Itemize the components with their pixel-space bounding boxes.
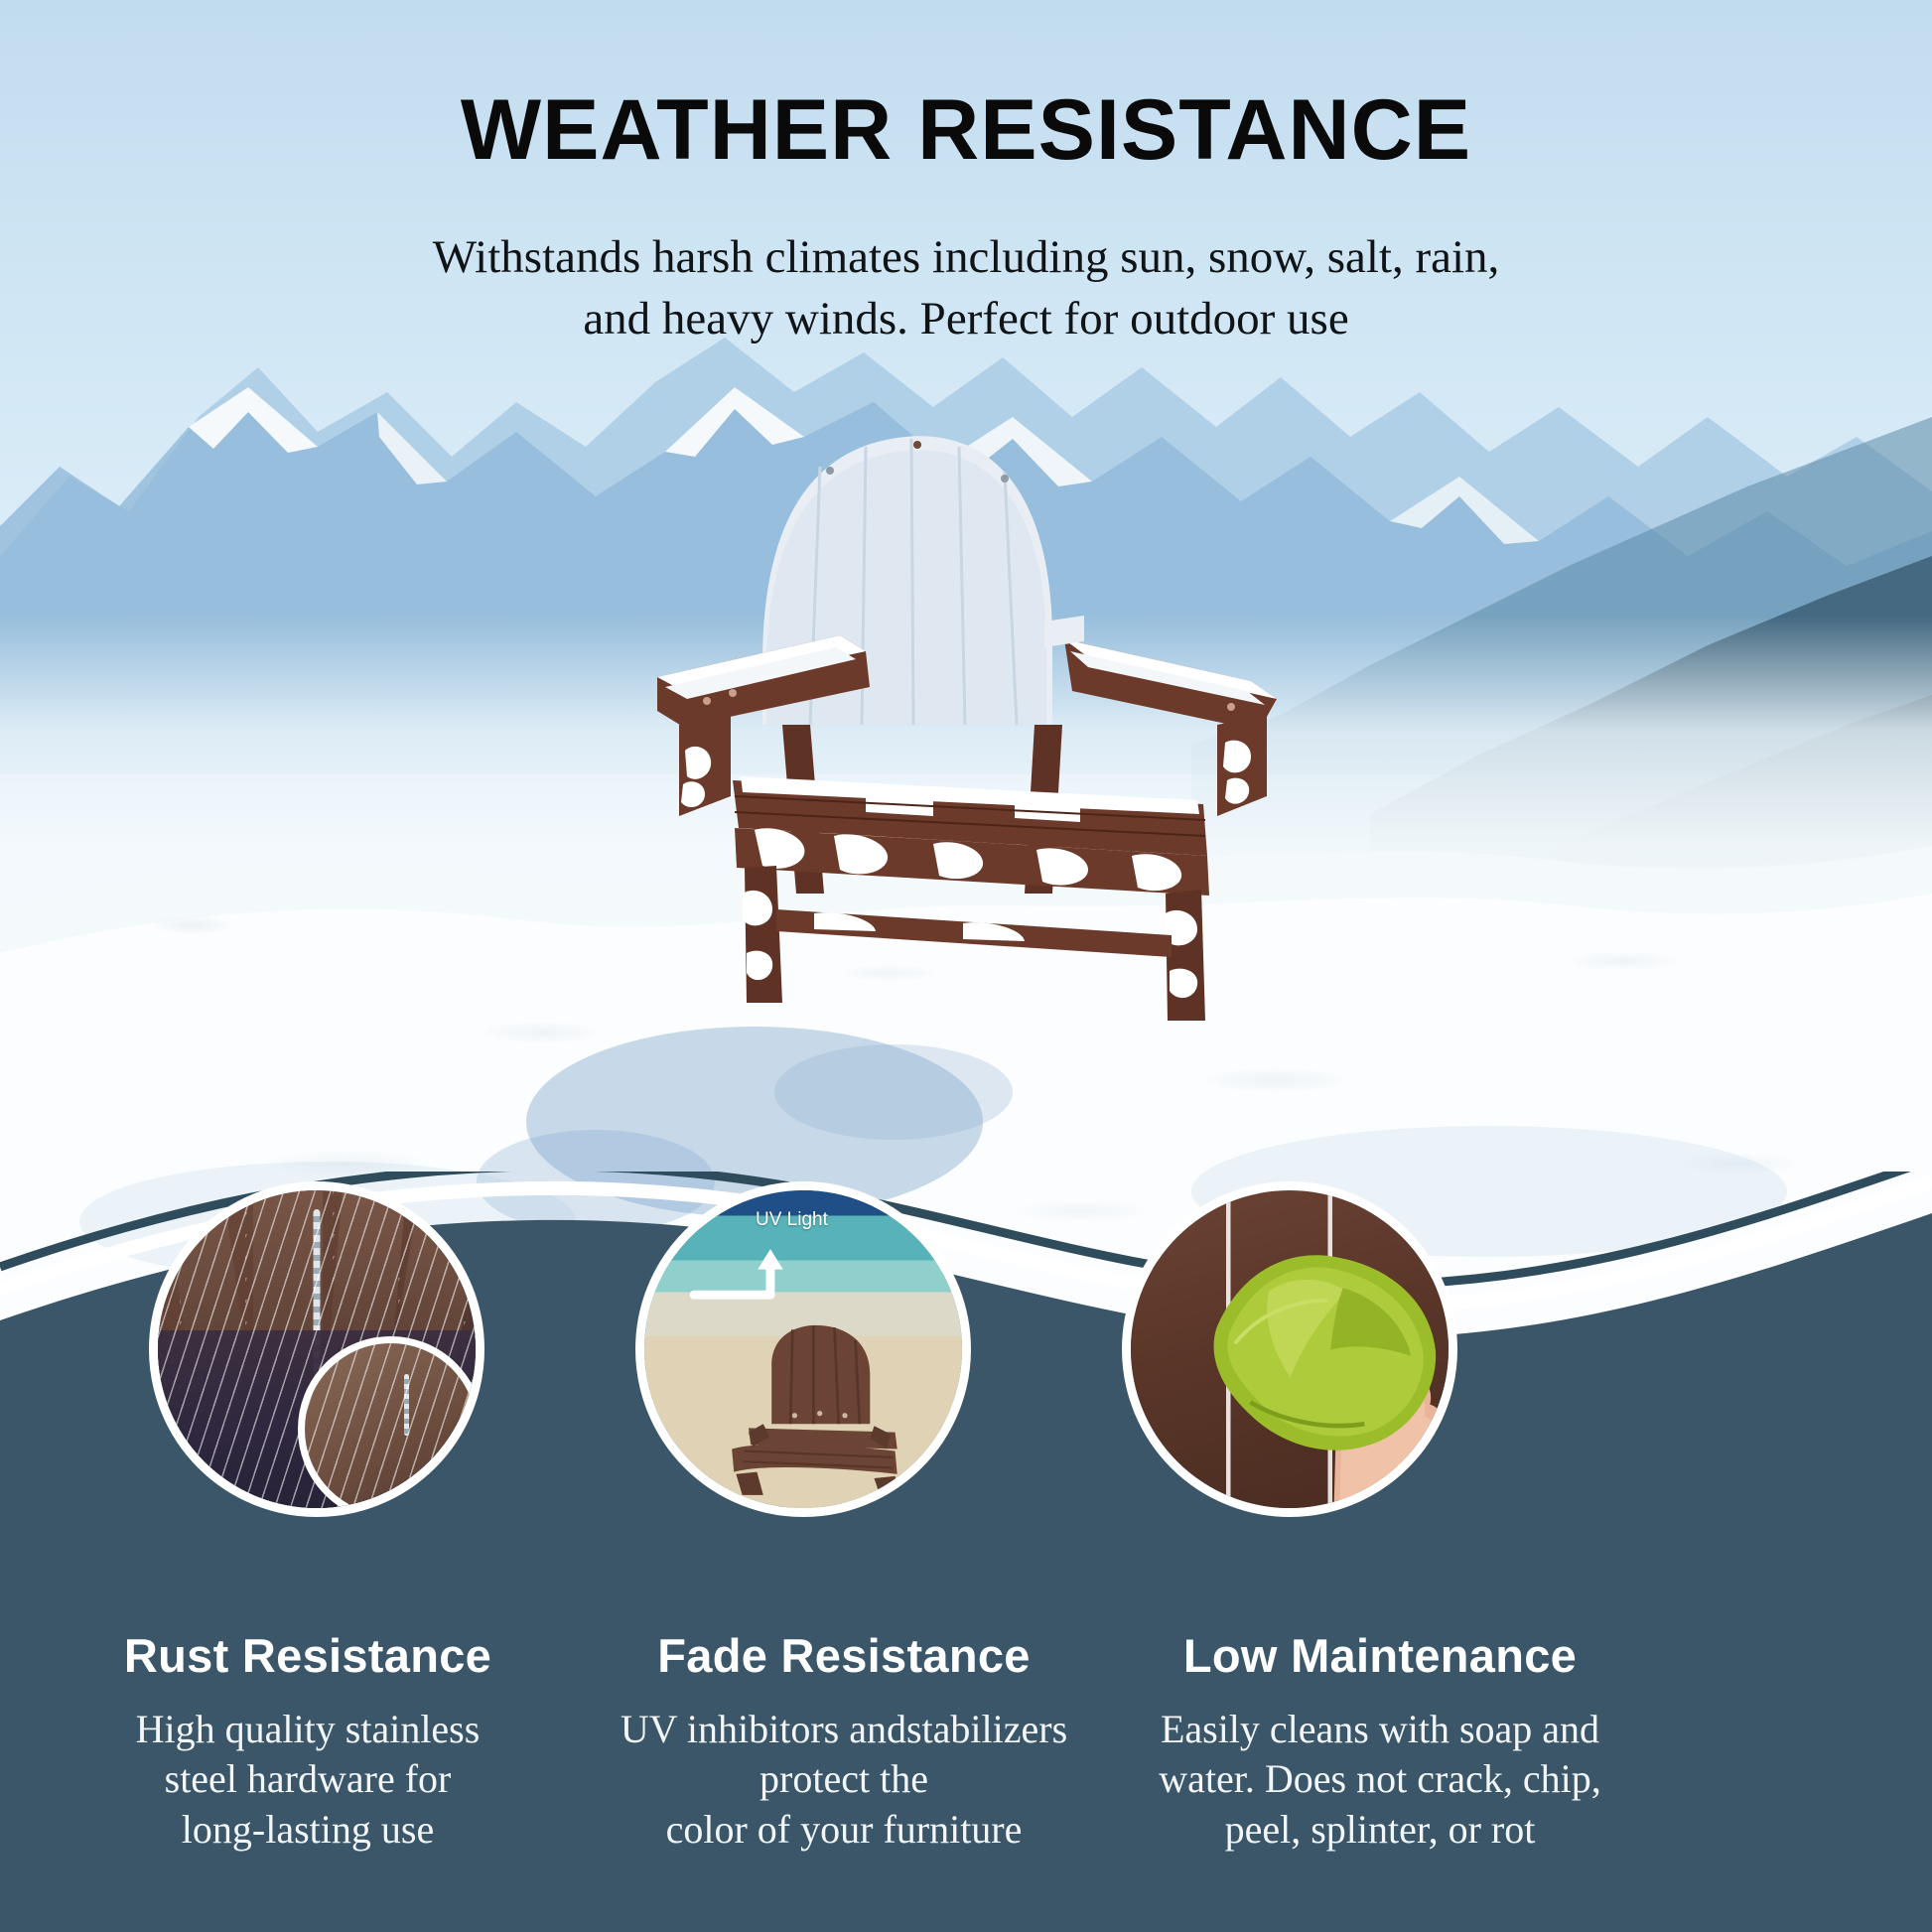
subtitle-line-2: and heavy winds. Perfect for outdoor use	[0, 288, 1932, 349]
feature-title-fade-resistance: Fade Resistance	[576, 1628, 1112, 1683]
page-subtitle: Withstands harsh climates including sun,…	[0, 226, 1932, 349]
uv-light-label: UV Light	[756, 1209, 828, 1231]
uv-light-arrow-icon	[682, 1244, 828, 1320]
feature-body-line-2: water. Does not crack, chip,	[1159, 1756, 1600, 1801]
weather-resistance-infographic: UV Light	[0, 0, 1932, 1932]
feature-body-fade-resistance: UV inhibitors andstabilizers protect the…	[576, 1705, 1112, 1855]
feature-body-line-3: peel, splinter, or rot	[1225, 1807, 1536, 1852]
feature-title-low-maintenance: Low Maintenance	[1112, 1628, 1648, 1683]
feature-body-line-3: long-lasting use	[182, 1807, 434, 1852]
feature-body-rust-resistance: High quality stainless steel hardware fo…	[40, 1705, 576, 1855]
page-title: WEATHER RESISTANCE	[0, 87, 1932, 173]
feature-body-line-3: color of your furniture	[666, 1807, 1023, 1852]
feature-body-line-1: Easily cleans with soap and	[1161, 1707, 1599, 1751]
feature-body-line-2: protect the	[759, 1756, 928, 1801]
feature-image-fade-resistance: UV Light	[635, 1181, 971, 1517]
feature-body-line-1: UV inhibitors andstabilizers	[621, 1707, 1067, 1751]
feature-text-fade-resistance: Fade Resistance UV inhibitors andstabili…	[576, 1628, 1112, 1855]
feature-title-rust-resistance: Rust Resistance	[40, 1628, 576, 1683]
feature-body-line-2: steel hardware for	[165, 1756, 452, 1801]
feature-text-rust-resistance: Rust Resistance High quality stainless s…	[40, 1628, 576, 1855]
beach-chair-illustration	[714, 1323, 930, 1501]
feature-text-low-maintenance: Low Maintenance Easily cleans with soap …	[1112, 1628, 1648, 1855]
feature-image-rust-resistance	[149, 1181, 484, 1517]
feature-image-low-maintenance	[1122, 1181, 1457, 1517]
adirondack-chair-in-snow	[635, 427, 1311, 1062]
feature-body-line-1: High quality stainless	[136, 1707, 481, 1751]
rain-streaks-overlay	[158, 1190, 476, 1508]
green-cleaning-cloth	[1194, 1248, 1443, 1464]
subtitle-line-1: Withstands harsh climates including sun,…	[0, 226, 1932, 288]
feature-body-low-maintenance: Easily cleans with soap and water. Does …	[1112, 1705, 1648, 1855]
